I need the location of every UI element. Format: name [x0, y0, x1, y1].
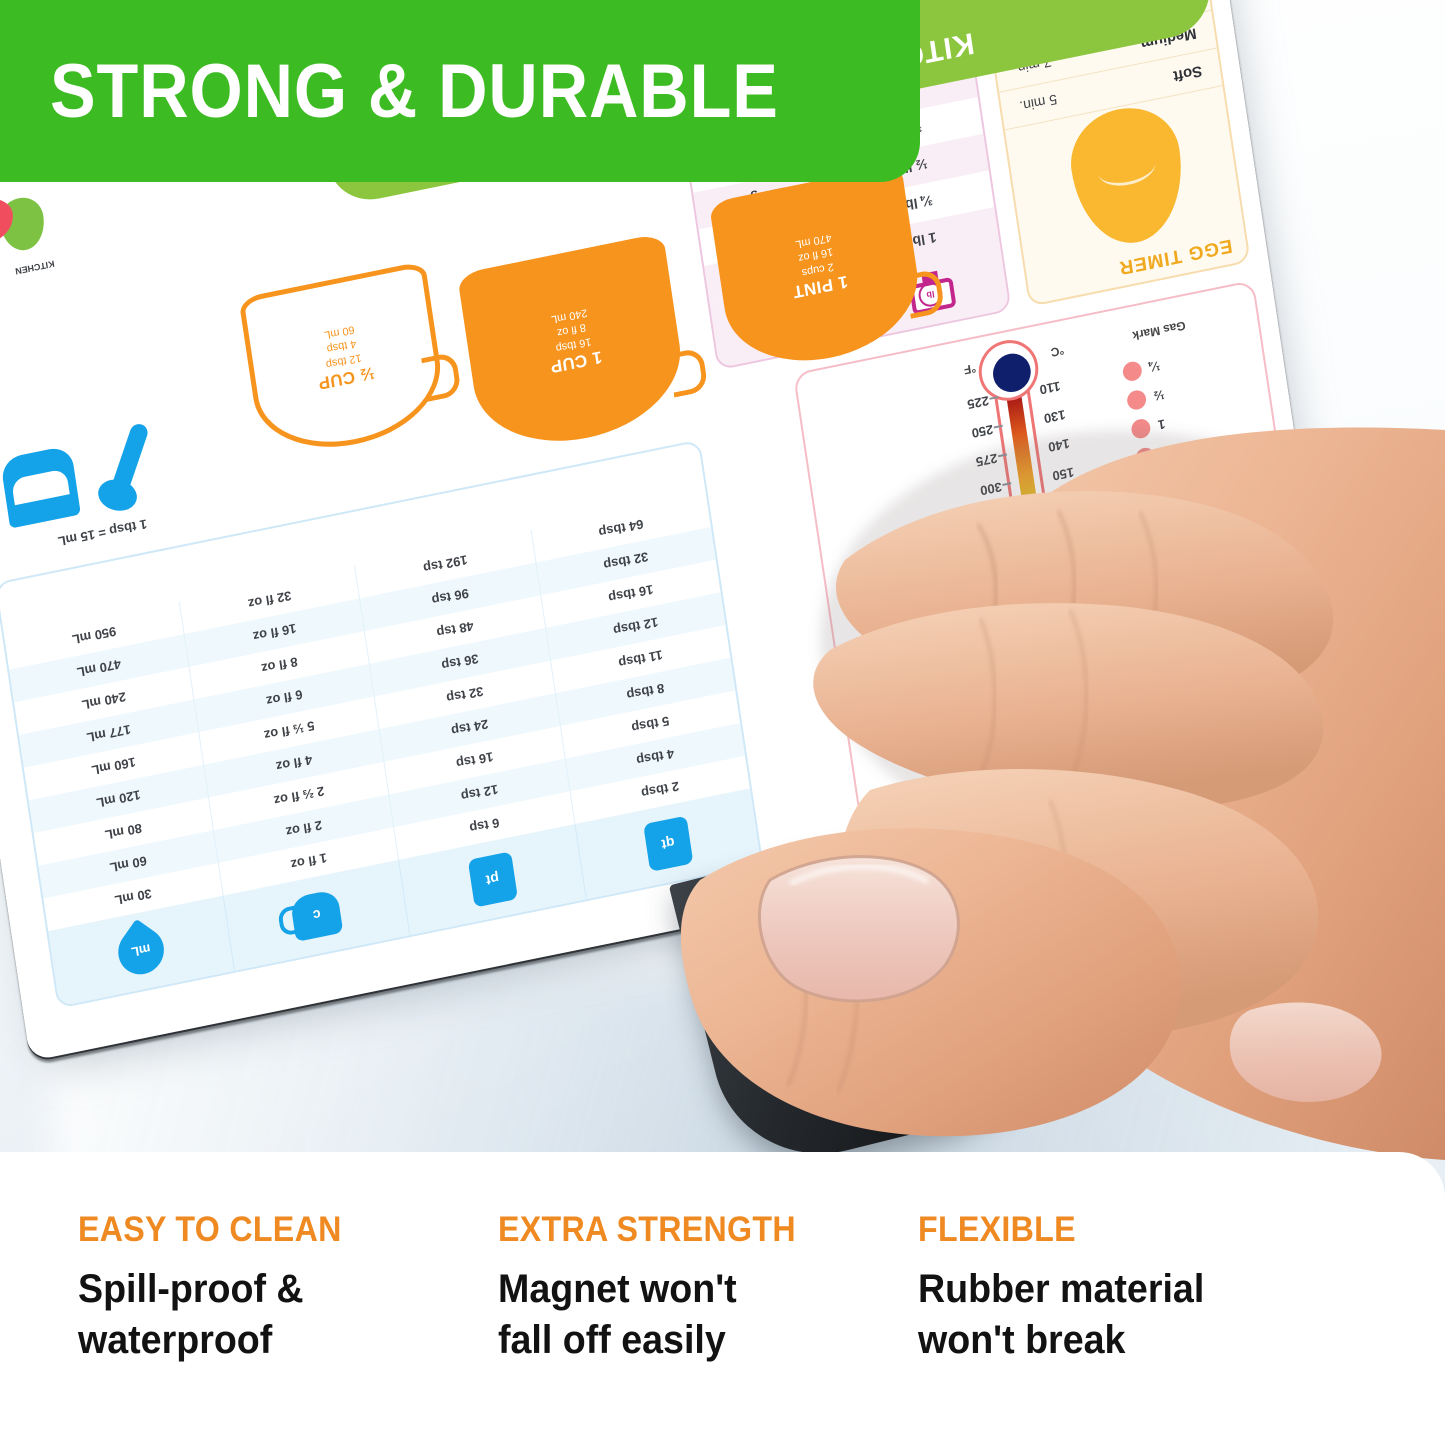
feature-easy-to-clean-line1: Spill-proof & — [78, 1264, 473, 1315]
feature-flexible-line2: won't break — [918, 1315, 1369, 1366]
feature-easy-to-clean-line2: waterproof — [78, 1315, 473, 1366]
feature-easy-to-clean: EASY TO CLEAN Spill-proof & waterproof — [78, 1210, 498, 1444]
feature-extra-strength-heading: EXTRA STRENGTH — [498, 1210, 884, 1250]
feature-easy-to-clean-heading: EASY TO CLEAN — [78, 1210, 464, 1250]
feature-extra-strength-line2: fall off easily — [498, 1315, 893, 1366]
feature-easy-to-clean-body: Spill-proof & waterproof — [78, 1264, 473, 1366]
feature-flexible-line1: Rubber material — [918, 1264, 1369, 1315]
feature-extra-strength-line1: Magnet won't — [498, 1264, 893, 1315]
feature-flexible-heading: FLEXIBLE — [918, 1210, 1360, 1250]
headline-text: STRONG & DURABLE — [50, 48, 779, 135]
feature-extra-strength-body: Magnet won't fall off easily — [498, 1264, 893, 1366]
feature-flexible: FLEXIBLE Rubber material won't break — [918, 1210, 1398, 1444]
feature-panel: EASY TO CLEAN Spill-proof & waterproof E… — [0, 1152, 1445, 1444]
feature-extra-strength: EXTRA STRENGTH Magnet won't fall off eas… — [498, 1210, 918, 1444]
headline-banner: STRONG & DURABLE — [0, 0, 920, 182]
feature-flexible-body: Rubber material won't break — [918, 1264, 1369, 1366]
thumbnail — [759, 857, 958, 1001]
product-photo: OVEN TEMP 68°F / 20°C For fan-forced ove… — [0, 0, 1445, 1444]
